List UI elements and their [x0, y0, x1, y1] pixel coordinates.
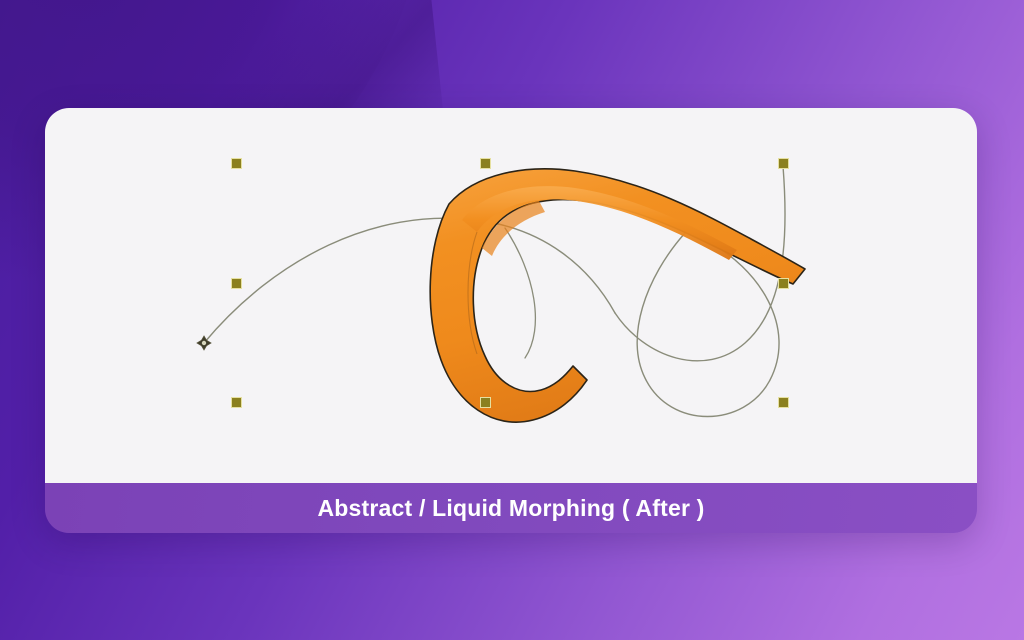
canvas-artwork: [45, 108, 977, 483]
handle-bottom-left[interactable]: [231, 397, 242, 408]
screenshot-stage: Abstract / Liquid Morphing ( After ): [0, 0, 1024, 640]
caption-label: Abstract / Liquid Morphing ( After ): [317, 495, 704, 522]
handle-top-left[interactable]: [231, 158, 242, 169]
anchor-center-dot: [202, 341, 206, 345]
handle-bottom-center[interactable]: [480, 397, 491, 408]
handle-top-right[interactable]: [778, 158, 789, 169]
caption-bar: Abstract / Liquid Morphing ( After ): [45, 483, 977, 533]
motion-path-left-sweep: [204, 218, 615, 343]
handle-middle-left[interactable]: [231, 278, 242, 289]
motion-path-inner-arc: [505, 228, 535, 358]
preview-card: Abstract / Liquid Morphing ( After ): [45, 108, 977, 533]
handle-bottom-right[interactable]: [778, 397, 789, 408]
design-canvas[interactable]: [45, 108, 977, 483]
liquid-morph-shape[interactable]: [430, 169, 805, 422]
handle-middle-right[interactable]: [778, 278, 789, 289]
handle-top-center[interactable]: [480, 158, 491, 169]
